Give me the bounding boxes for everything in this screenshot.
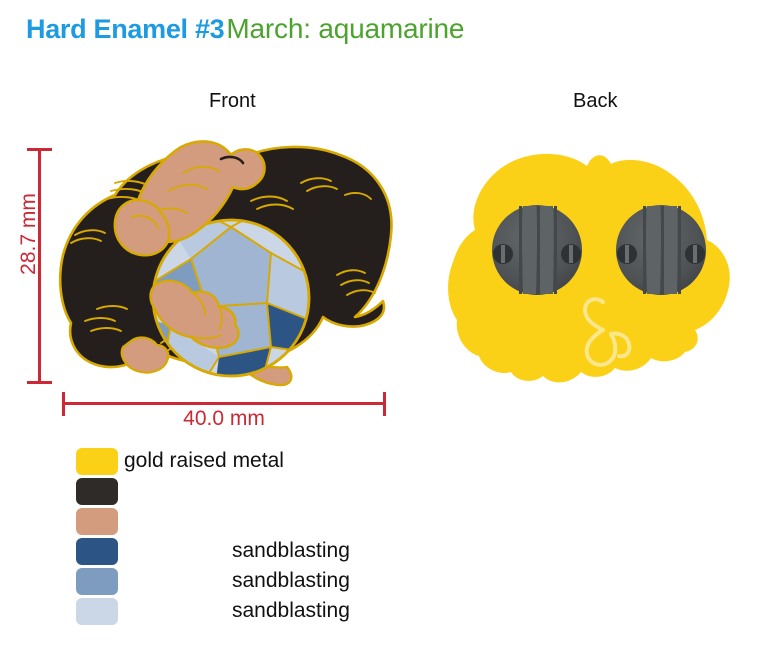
- front-pin-artwork: [55, 135, 405, 395]
- legend-row: sandblasting: [76, 536, 350, 566]
- back-view-label: Back: [573, 90, 617, 113]
- butterfly-clutch-post-left: [492, 205, 582, 295]
- legend-row: sandblasting: [76, 596, 350, 626]
- front-view-label: Front: [209, 90, 256, 113]
- pin-design-spec-sheet: { "title": { "product": "Hard Enamel #3"…: [0, 0, 762, 649]
- legend-row: [76, 506, 350, 536]
- legend-row: sandblasting: [76, 566, 350, 596]
- legend-label-dark-blue: sandblasting: [232, 539, 350, 563]
- legend-swatch-black[interactable]: [76, 478, 118, 505]
- legend-swatch-light-blue[interactable]: [76, 598, 118, 625]
- legend-label-gold: gold raised metal: [124, 449, 284, 473]
- height-dimension-label: 28.7 mm: [17, 189, 41, 279]
- butterfly-clutch-post-right: [616, 205, 706, 295]
- legend-row: gold raised metal: [76, 446, 350, 476]
- legend-label-mid-blue: sandblasting: [232, 569, 350, 593]
- legend-swatch-mid-blue[interactable]: [76, 568, 118, 595]
- legend-row: [76, 476, 350, 506]
- niffler-front-illustration: [55, 135, 405, 390]
- page-title: Hard Enamel #3 March: aquamarine: [26, 13, 464, 45]
- width-dimension-line: [62, 402, 386, 405]
- legend-swatch-tan[interactable]: [76, 508, 118, 535]
- legend-swatch-dark-blue[interactable]: [76, 538, 118, 565]
- height-dimension-cap-bottom: [27, 381, 52, 384]
- back-pin-artwork: [445, 130, 735, 405]
- title-product-name: Hard Enamel #3: [26, 14, 224, 45]
- pin-back-illustration: [445, 130, 735, 400]
- title-month-gemstone: March: aquamarine: [226, 13, 464, 45]
- legend-label-light-blue: sandblasting: [232, 599, 350, 623]
- material-color-legend: gold raised metal sandblasting sandblast…: [76, 446, 350, 626]
- width-dimension-label: 40.0 mm: [62, 407, 386, 431]
- legend-swatch-gold[interactable]: [76, 448, 118, 475]
